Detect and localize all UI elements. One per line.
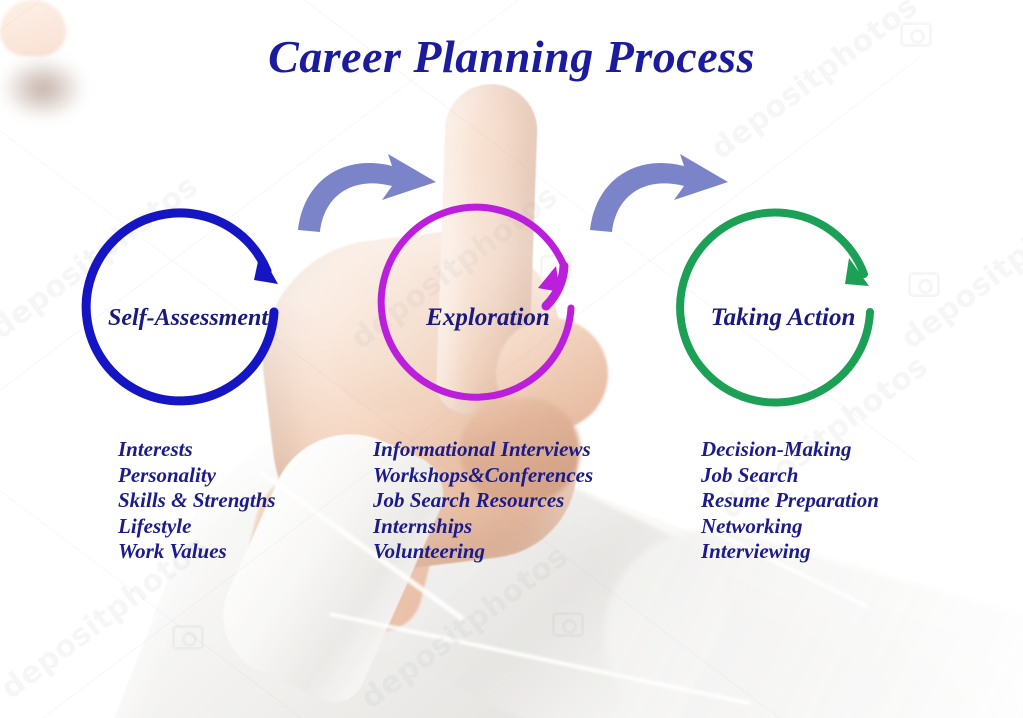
career-planning-diagram: depositphotos depositphotos depositphoto…: [0, 0, 1023, 718]
stage-label-exploration: Exploration: [378, 208, 598, 428]
sleeve-seam: [329, 612, 750, 705]
list-item: Lifestyle: [118, 514, 276, 540]
list-item: Interviewing: [701, 539, 879, 565]
stage-items-exploration: Informational Interviews Workshops&Confe…: [373, 437, 593, 565]
list-item: Work Values: [118, 539, 276, 565]
stage-items-taking-action: Decision-Making Job Search Resume Prepar…: [701, 437, 879, 565]
list-item: Skills & Strengths: [118, 488, 276, 514]
stage-label-self-assessment: Self-Assessment: [78, 208, 298, 428]
stage-items-self-assessment: Interests Personality Skills & Strengths…: [118, 437, 276, 565]
stage-label-taking-action: Taking Action: [673, 208, 893, 428]
list-item: Personality: [118, 463, 276, 489]
list-item: Volunteering: [373, 539, 593, 565]
camera-icon: [172, 625, 204, 650]
camera-icon: [552, 612, 584, 637]
camera-icon: [908, 272, 940, 297]
stage-circle-self-assessment[interactable]: Self-Assessment: [78, 208, 298, 428]
list-item: Interests: [118, 437, 276, 463]
list-item: Job Search: [701, 463, 879, 489]
stage-circle-taking-action[interactable]: Taking Action: [673, 208, 893, 428]
stage-circle-exploration[interactable]: Exploration: [378, 208, 598, 428]
watermark-text: depositphotos: [355, 539, 575, 717]
watermark-text: depositphotos: [705, 0, 925, 166]
page-title: Career Planning Process: [0, 30, 1023, 83]
list-item: Workshops&Conferences: [373, 463, 593, 489]
list-item: Networking: [701, 514, 879, 540]
list-item: Informational Interviews: [373, 437, 593, 463]
list-item: Job Search Resources: [373, 488, 593, 514]
watermark-text: depositphotos: [895, 179, 1023, 357]
list-item: Decision-Making: [701, 437, 879, 463]
list-item: Resume Preparation: [701, 488, 879, 514]
list-item: Internships: [373, 514, 593, 540]
